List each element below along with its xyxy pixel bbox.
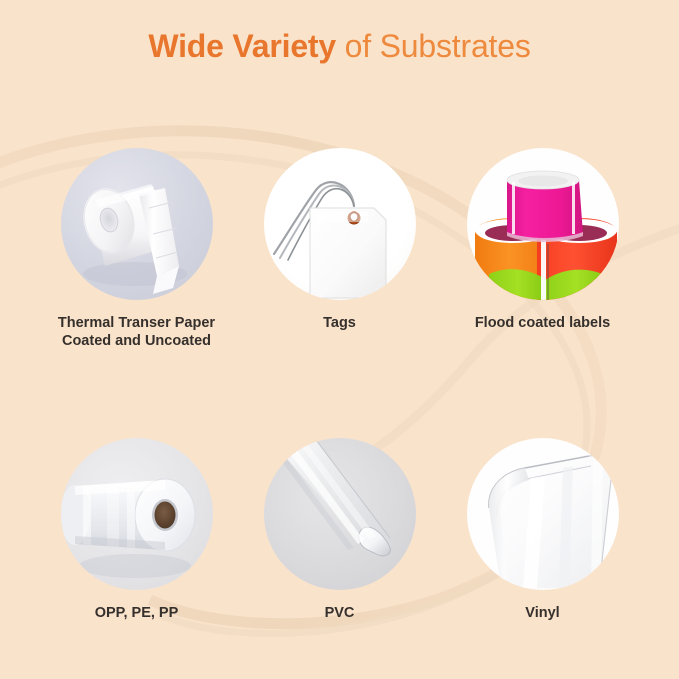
substrate-row-1: Thermal Transer Paper Coated and Uncoate…: [0, 148, 679, 350]
substrate-caption: Tags: [323, 314, 356, 332]
shipping-tag-with-wire-photo: [264, 148, 416, 300]
substrate-item-tags[interactable]: Tags: [238, 148, 441, 332]
stretch-film-roll-photo: [61, 438, 213, 590]
substrate-item-opp-pe-pp[interactable]: OPP, PE, PP: [35, 438, 238, 622]
substrate-item-flood-coated-labels[interactable]: Flood coated labels: [441, 148, 644, 332]
substrate-row-2: OPP, PE, PP: [0, 438, 679, 622]
substrate-item-vinyl[interactable]: Vinyl: [441, 438, 644, 622]
label-roll-white-photo: [61, 148, 213, 300]
page-title-light: of Substrates: [336, 28, 531, 64]
page-title-strong: Wide Variety: [148, 28, 336, 64]
substrate-caption: Thermal Transer Paper Coated and Uncoate…: [58, 314, 215, 350]
substrate-item-pvc[interactable]: PVC: [238, 438, 441, 622]
substrates-infographic: Wide Variety of Substrates: [0, 0, 679, 679]
page-title: Wide Variety of Substrates: [0, 28, 679, 65]
fluorescent-label-rolls-photo: [467, 148, 619, 300]
substrate-item-thermal-transfer-paper[interactable]: Thermal Transer Paper Coated and Uncoate…: [35, 148, 238, 350]
clear-pvc-film-photo: [264, 438, 416, 590]
substrate-caption: OPP, PE, PP: [95, 604, 179, 622]
substrate-caption: PVC: [325, 604, 355, 622]
substrate-caption: Flood coated labels: [475, 314, 610, 332]
clear-vinyl-sheet-photo: [467, 438, 619, 590]
substrate-caption: Vinyl: [525, 604, 559, 622]
substrate-grid: Thermal Transer Paper Coated and Uncoate…: [0, 148, 679, 622]
